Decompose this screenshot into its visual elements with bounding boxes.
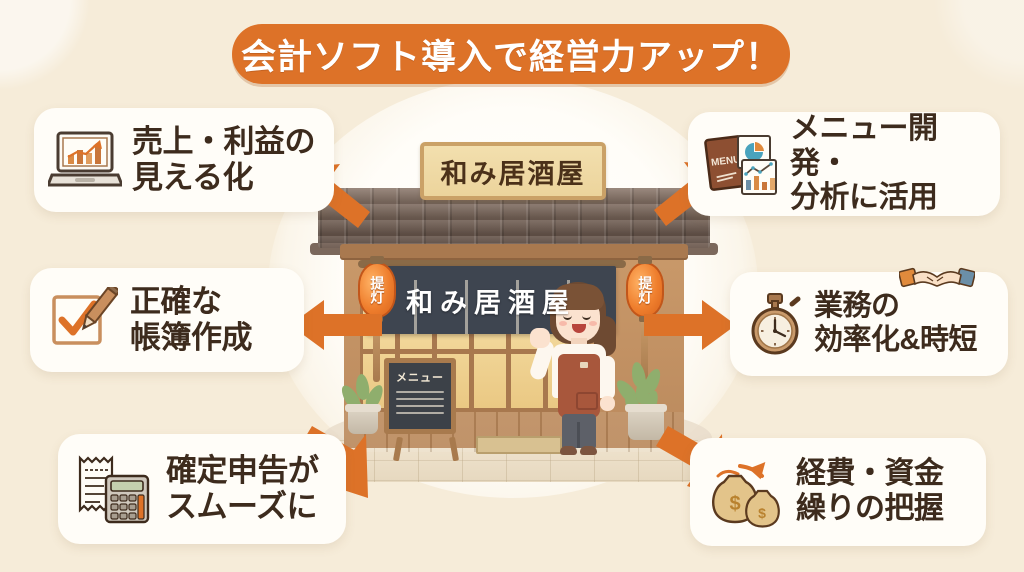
menu-a-board: メニュー [384, 358, 456, 434]
card-label: 経費・資金 繰りの把握 [796, 457, 944, 527]
facade-fascia [340, 244, 688, 260]
stopwatch-icon [744, 292, 806, 356]
cheek-right [589, 321, 597, 326]
card-tax-filing-smooth[interactable]: 確定申告が スムーズに [58, 434, 346, 544]
legs [562, 414, 596, 448]
card-accurate-bookkeeping[interactable]: 正確な 帳簿作成 [30, 268, 304, 372]
money-symbol-large: $ [729, 493, 740, 515]
card-label: 確定申告が スムーズに [166, 453, 319, 525]
shop-signboard: 和み居酒屋 [420, 142, 606, 200]
card-label: 正確な 帳簿作成 [130, 284, 252, 356]
card-menu-development-analysis[interactable]: MENU メニュー開発・ 分析に活用 [688, 112, 1000, 216]
money-bags-arrow-icon: $ $ [704, 456, 786, 528]
checkbox-pencil-icon [48, 287, 118, 353]
card-expense-cashflow-grasp[interactable]: $ $ 経費・資金 繰りの把握 [690, 438, 986, 546]
shoe-left [560, 446, 577, 455]
handshake-icon [899, 266, 975, 292]
card-operational-efficiency[interactable]: 業務の 効率化&時短 [730, 272, 1008, 376]
resting-hand [600, 396, 615, 411]
menu-book-charts-icon: MENU [702, 130, 782, 198]
arrow-middle-right [642, 298, 738, 352]
menu-board-title: メニュー [389, 369, 451, 385]
cheek-left [559, 321, 567, 326]
title-banner: 会計ソフト導入で経営力アップ！ [232, 24, 790, 84]
menu-board-legs [393, 437, 459, 459]
laptop-bar-chart-icon [48, 129, 122, 191]
card-label: 売上・利益の 見える化 [132, 124, 315, 196]
card-sales-profit-visualization[interactable]: 売上・利益の 見える化 [34, 108, 334, 212]
shop-name-text: 和み居酒屋 [441, 152, 586, 191]
menu-board-lines [396, 391, 444, 414]
receipt-calculator-icon [74, 452, 156, 526]
resting-arm [600, 356, 615, 400]
shoe-right [580, 446, 597, 455]
apron-pocket [576, 392, 598, 410]
noren-text: 和み居酒屋 [406, 281, 576, 320]
card-label: メニュー開発・ 分析に活用 [790, 112, 988, 216]
infographic-canvas: 会計ソフト導入で経営力アップ！ 和み居酒屋 和み居酒屋 提灯 提灯 [0, 0, 1024, 572]
card-label: 業務の 効率化&時短 [814, 290, 977, 357]
name-badge [580, 362, 588, 368]
waving-hand [530, 328, 550, 348]
money-symbol-small: $ [758, 505, 766, 521]
page-title: 会計ソフト導入で経営力アップ！ [241, 29, 781, 80]
